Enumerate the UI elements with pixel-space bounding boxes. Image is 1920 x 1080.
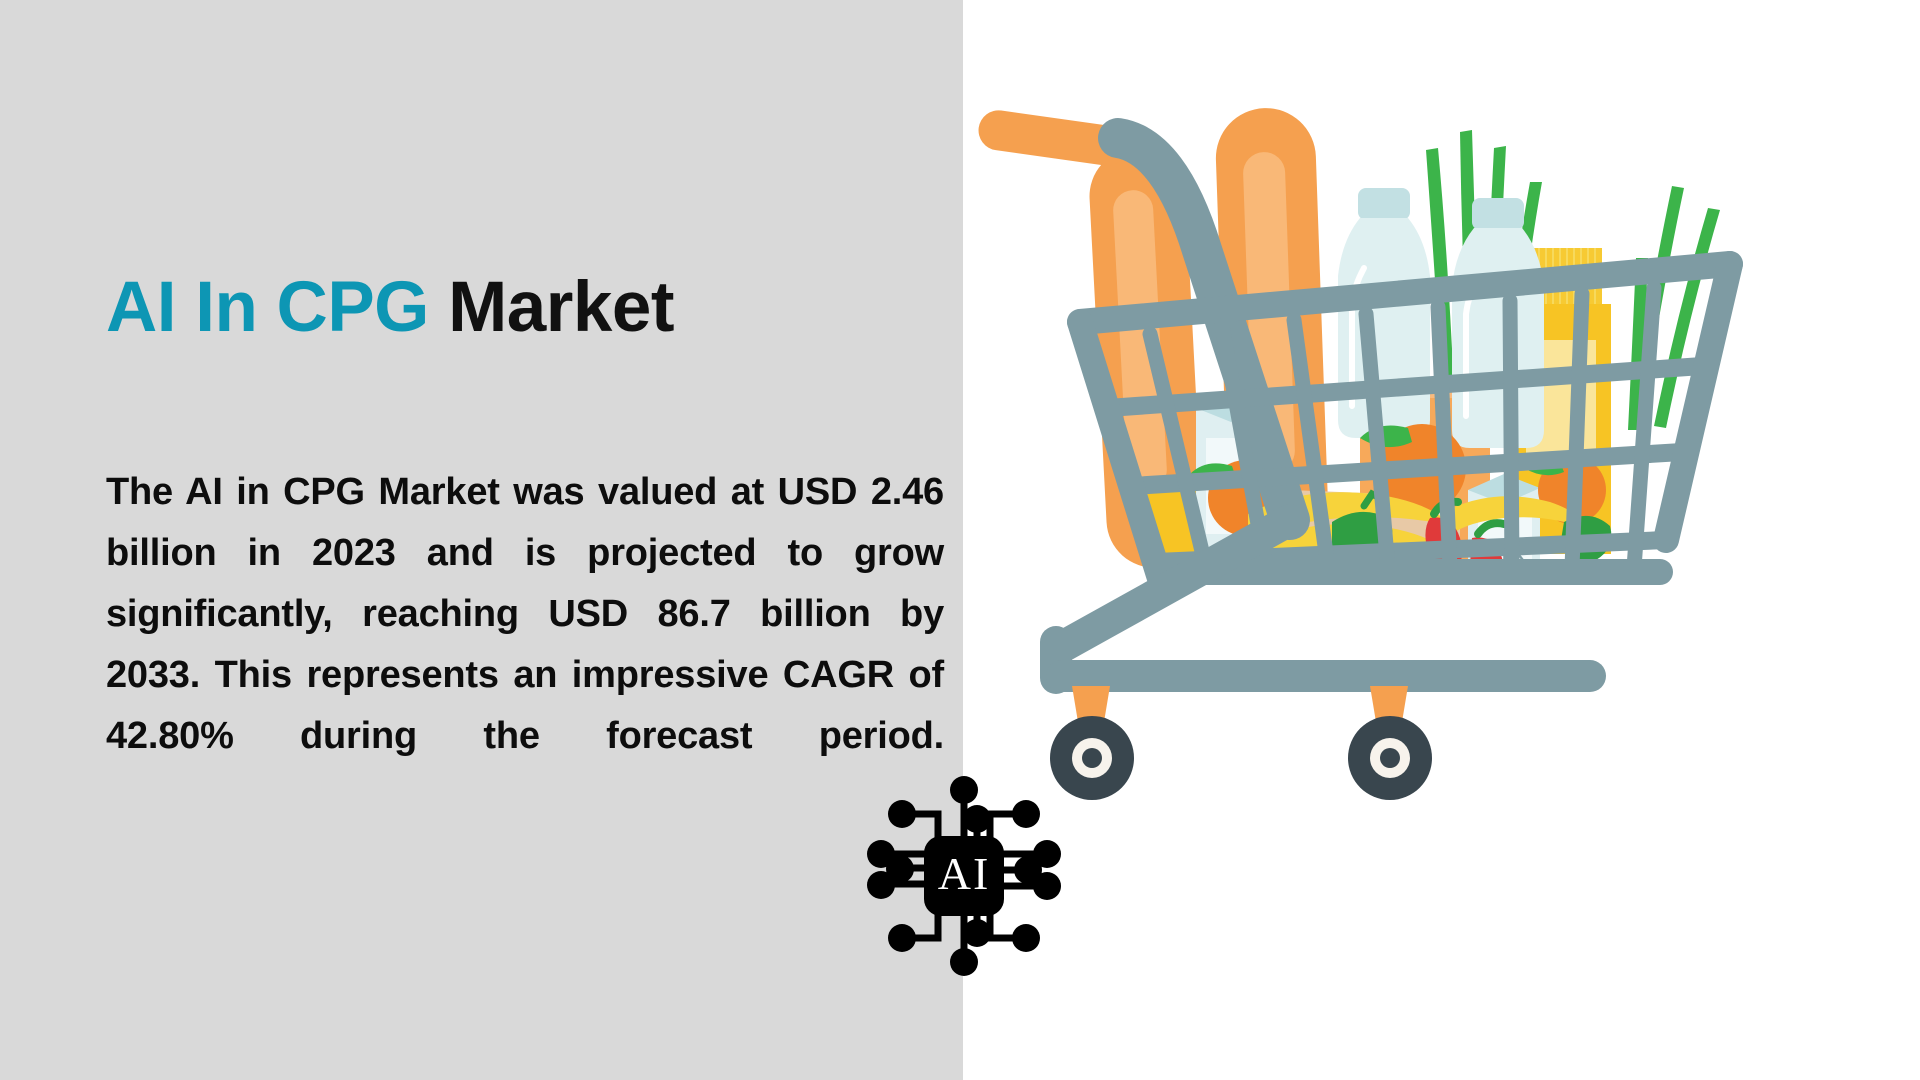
market-summary-paragraph: The AI in CPG Market was valued at USD 2… bbox=[106, 462, 944, 828]
page-title-rest: Market bbox=[429, 268, 674, 347]
page-title-highlight: AI In CPG bbox=[106, 268, 429, 347]
ai-chip-label: AI bbox=[938, 848, 991, 899]
shopping-cart-illustration: MILK MILK bbox=[960, 90, 1920, 850]
page-title: AI In CPG Market bbox=[106, 272, 926, 343]
cart-wheel-front bbox=[1050, 686, 1134, 800]
slide-root: AI In CPG Market The AI in CPG Market wa… bbox=[0, 0, 1920, 1080]
water-bottle-left bbox=[1338, 188, 1430, 438]
cart-wheel-rear bbox=[1348, 686, 1432, 800]
